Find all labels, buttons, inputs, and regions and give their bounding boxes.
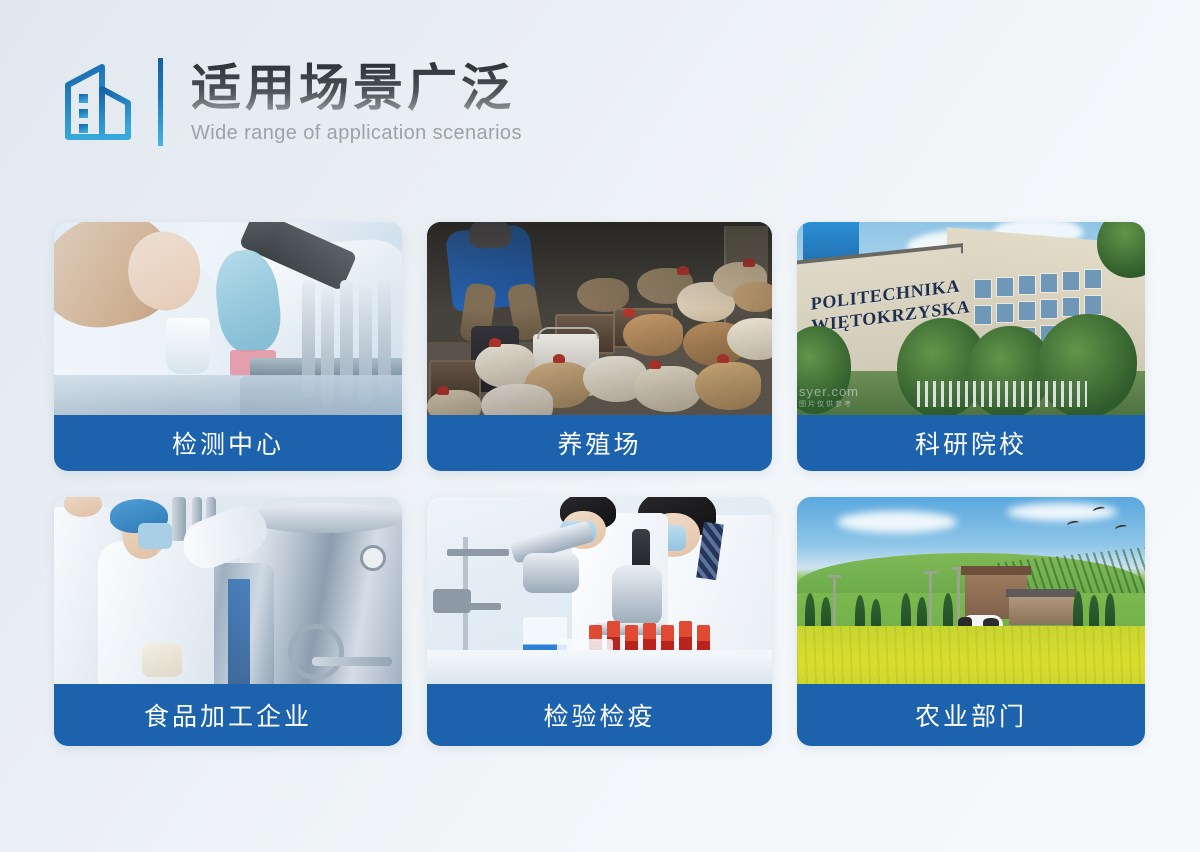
- scenario-card[interactable]: 农业部门: [797, 497, 1145, 746]
- card-label: 养殖场: [427, 415, 772, 471]
- card-label: 科研院校: [797, 415, 1145, 471]
- image-watermark: syer.com 图片仅供参考: [799, 384, 859, 409]
- card-photo-food-plant: [54, 497, 402, 684]
- scenario-card-grid: 检测中心: [54, 222, 1148, 746]
- page-title: 适用场景广泛: [191, 61, 522, 115]
- application-scenarios-page: 适用场景广泛 Wide range of application scenari…: [0, 0, 1200, 852]
- scenario-card[interactable]: 食品加工企业: [54, 497, 402, 746]
- header-titles: 适用场景广泛 Wide range of application scenari…: [191, 59, 522, 145]
- scenario-card[interactable]: 检测中心: [54, 222, 402, 471]
- scenario-card[interactable]: POLITECHNIKA WIĘTOKRZYSKA syer.com 图片仅供参…: [797, 222, 1145, 471]
- card-photo-poultry-farm: [427, 222, 772, 415]
- page-header: 适用场景广泛 Wide range of application scenari…: [62, 58, 522, 146]
- card-photo-microscope-lab: [54, 222, 402, 415]
- card-label: 农业部门: [797, 684, 1145, 746]
- card-photo-university: POLITECHNIKA WIĘTOKRZYSKA syer.com 图片仅供参…: [797, 222, 1145, 415]
- header-divider: [158, 58, 163, 146]
- card-photo-inspection-lab: [427, 497, 772, 684]
- card-label: 食品加工企业: [54, 684, 402, 746]
- card-photo-farmland: [797, 497, 1145, 684]
- scenario-card[interactable]: 养殖场: [427, 222, 772, 471]
- building-icon: [62, 63, 136, 141]
- card-label: 检验检疫: [427, 684, 772, 746]
- page-subtitle: Wide range of application scenarios: [191, 122, 522, 145]
- card-label: 检测中心: [54, 415, 402, 471]
- scenario-card[interactable]: 检验检疫: [427, 497, 772, 746]
